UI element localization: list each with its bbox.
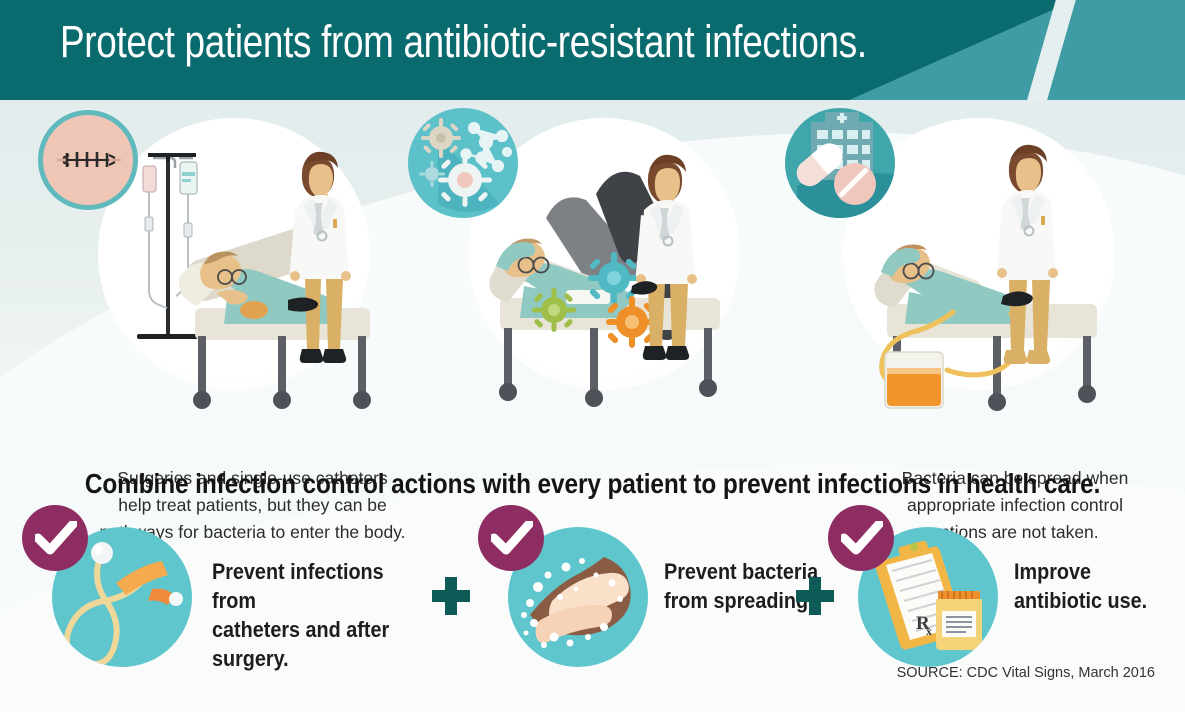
infographic-poster: Protect patients from antibiotic-resista… (0, 0, 1185, 712)
source-note: SOURCE: CDC Vital Signs, March 2016 (897, 665, 1155, 681)
page-title: Protect patients from antibiotic-resista… (60, 16, 867, 68)
check-mark-icon (828, 505, 894, 571)
header-banner: Protect patients from antibiotic-resista… (0, 0, 1185, 100)
surgical-incision-sutures-icon (38, 110, 138, 210)
check-mark-icon (22, 505, 88, 571)
headline-text: Combine infection control actions with e… (85, 468, 1100, 500)
plus-icon (796, 577, 834, 615)
action-label-line: Improve (1014, 557, 1091, 586)
action-row: Prevent infections from catheters and af… (0, 505, 1185, 660)
plus-icon (432, 577, 470, 615)
svg-text:x: x (926, 624, 932, 638)
action-antibiotic-use-label: Improve antibiotic use. (1014, 557, 1184, 615)
action-catheters-label: Prevent infections from catheters and af… (212, 557, 442, 673)
panel-surgery: Surgeries and single-use catheters help … (30, 100, 410, 450)
panel-row: Surgeries and single-use catheters help … (0, 100, 1185, 450)
headline-statement: Combine infection control actions with e… (0, 468, 1185, 500)
action-label-line: Prevent bacteria (664, 557, 818, 586)
action-label-line: from spreading. (664, 586, 814, 615)
pills-and-hospital-icon (785, 108, 895, 218)
panel-bacteria: Bacteria can be spread when appropriate … (400, 100, 780, 450)
panel-antibiotics: Antibiotics save lives, but poor prescri… (775, 100, 1155, 450)
check-mark-icon (478, 505, 544, 571)
bacteria-germs-icon (408, 108, 518, 218)
action-label-line: Prevent infections from (212, 557, 419, 615)
action-label-line: catheters and after surgery. (212, 615, 419, 673)
action-label-line: antibiotic use. (1014, 586, 1147, 615)
